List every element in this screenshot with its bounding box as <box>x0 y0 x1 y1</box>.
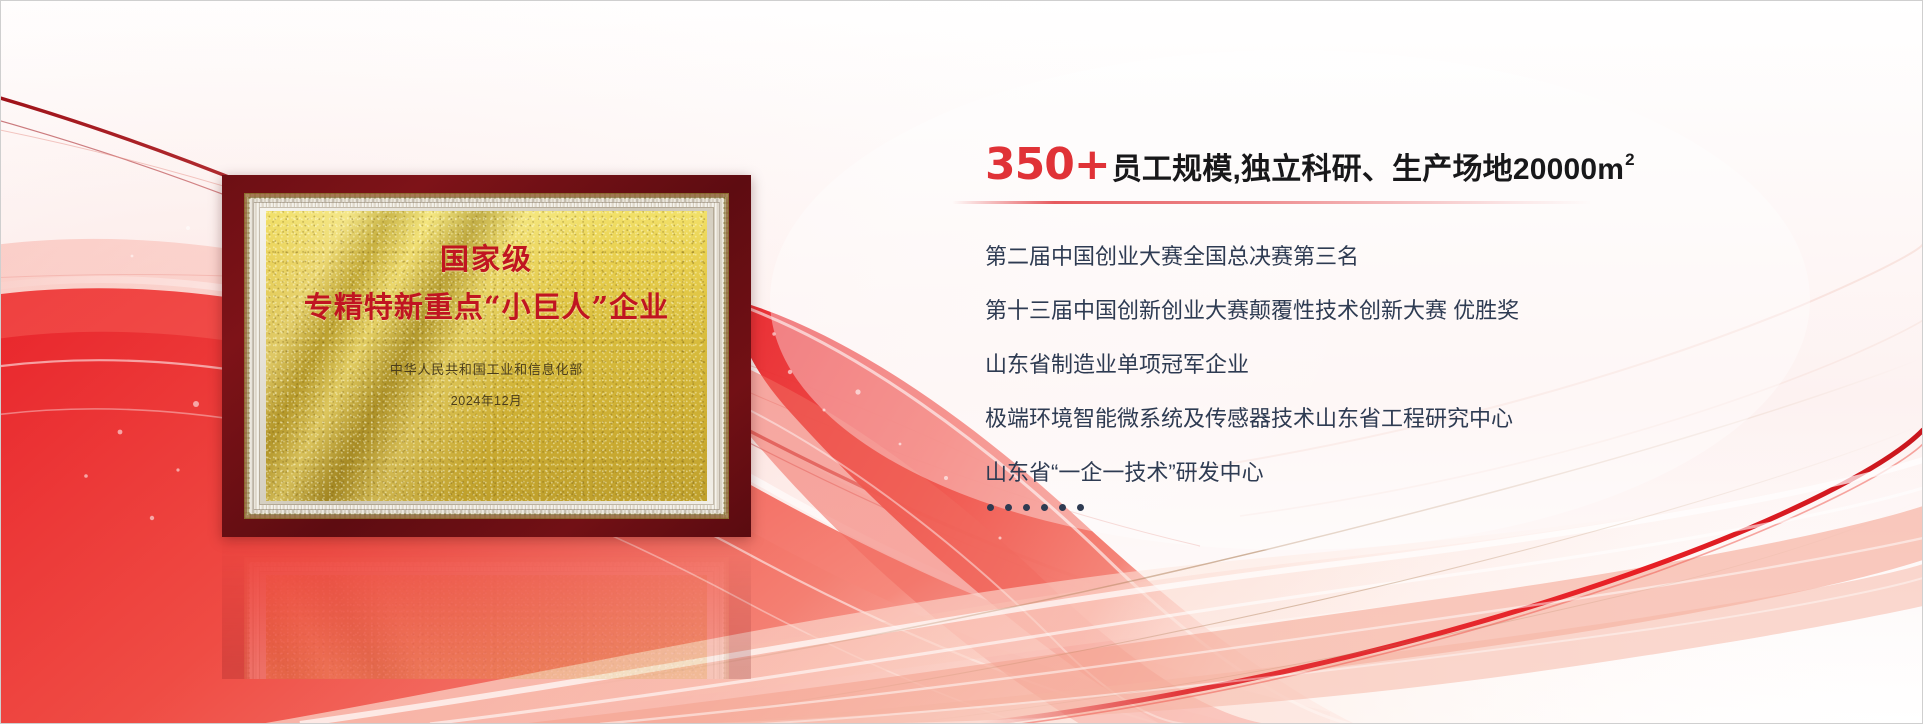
award-item: 山东省“一企一技术”研发中心 <box>985 462 1885 484</box>
plaque-issuer: 中华人民共和国工业和信息化部 <box>390 359 583 378</box>
ellipsis-dot <box>1005 504 1012 511</box>
award-item: 第二届中国创业大赛全国总决赛第三名 <box>985 246 1885 268</box>
plaque-text-block: 国家级 专精特新重点“小巨人”企业 中华人民共和国工业和信息化部 2024年12… <box>222 175 751 537</box>
award-item: 第十三届中国创新创业大赛颠覆性技术创新大赛 优胜奖 <box>985 300 1885 322</box>
ellipsis-dot <box>1059 504 1066 511</box>
ellipsis-dot <box>1077 504 1084 511</box>
plaque-date: 2024年12月 <box>451 390 523 409</box>
headline-underline-rule <box>952 201 1592 204</box>
national-award-plaque: 国家级 专精特新重点“小巨人”企业 中华人民共和国工业和信息化部 2024年12… <box>222 175 751 537</box>
plaque-title-line-2: 专精特新重点“小巨人”企业 <box>304 293 669 322</box>
award-item: 山东省制造业单项冠军企业 <box>985 354 1885 376</box>
more-items-ellipsis <box>987 504 1885 511</box>
plaque-outer-frame: 国家级 专精特新重点“小巨人”企业 中华人民共和国工业和信息化部 2024年12… <box>222 175 751 537</box>
headline: 350+ 员工规模,独立科研、生产场地20000m 2 <box>985 143 1885 187</box>
headline-superscript: 2 <box>1625 150 1634 170</box>
content-column: 350+ 员工规模,独立科研、生产场地20000m 2 第二届中国创业大赛全国总… <box>985 143 1885 511</box>
banner-stage: 国家级 专精特新重点“小巨人”企业 中华人民共和国工业和信息化部 2024年12… <box>0 0 1923 724</box>
ellipsis-dot <box>987 504 994 511</box>
plaque-title-line-1: 国家级 <box>440 245 533 274</box>
headline-employee-count: 350+ <box>985 143 1110 187</box>
ellipsis-dot <box>1023 504 1030 511</box>
awards-list: 第二届中国创业大赛全国总决赛第三名 第十三届中国创新创业大赛颠覆性技术创新大赛 … <box>985 246 1885 484</box>
award-item: 极端环境智能微系统及传感器技术山东省工程研究中心 <box>985 408 1885 430</box>
headline-description: 员工规模,独立科研、生产场地20000m <box>1112 155 1624 185</box>
ellipsis-dot <box>1041 504 1048 511</box>
